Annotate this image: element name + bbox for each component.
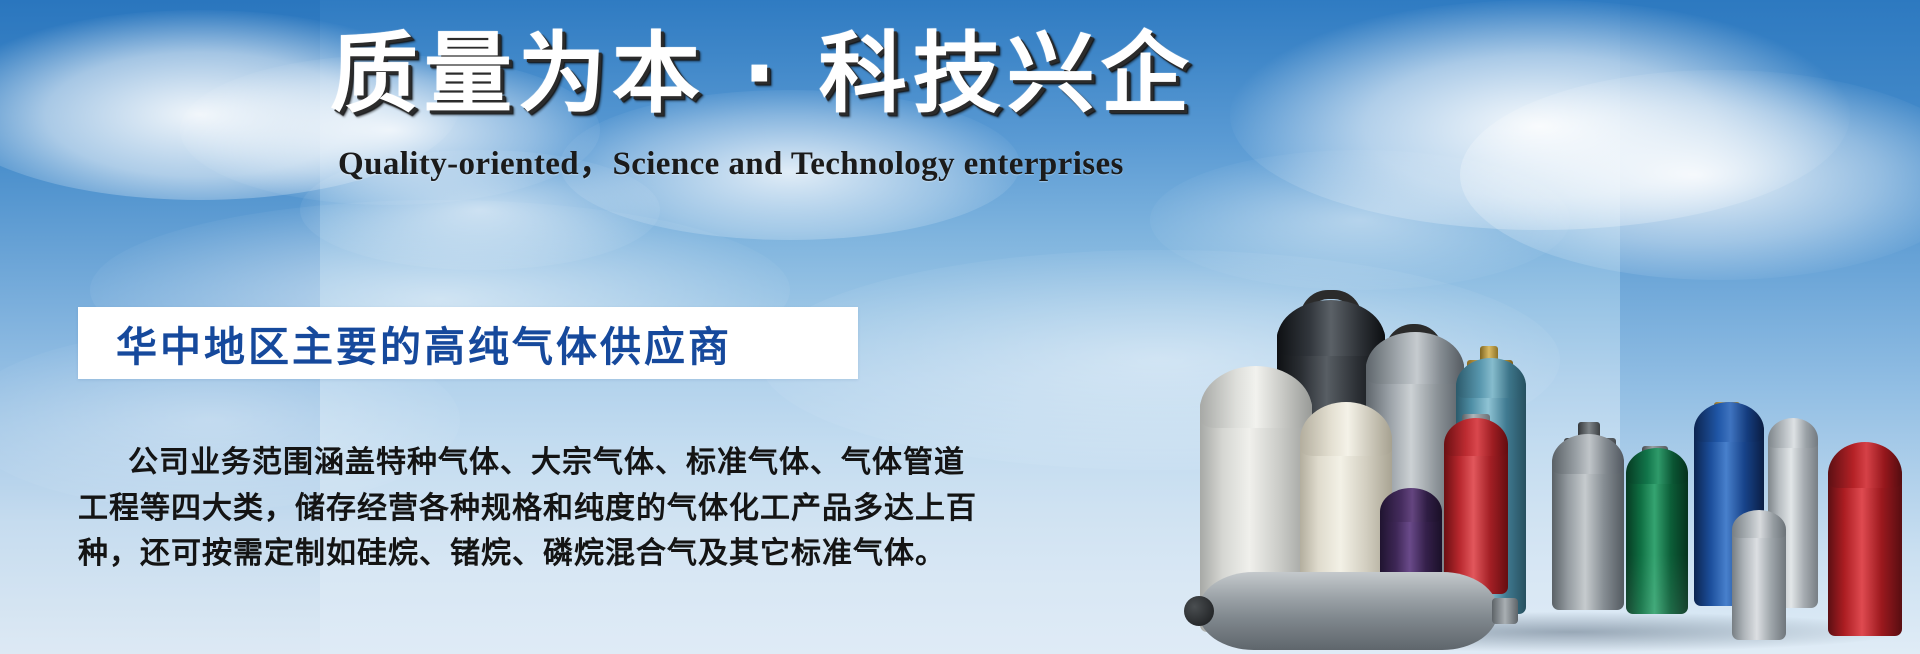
cylinder-shoulder: [1828, 442, 1902, 488]
cylinder-shoulder: [1694, 402, 1764, 442]
cylinder-shoulder: [1277, 300, 1385, 356]
cylinder-sheen: [1626, 464, 1688, 614]
cylinder-steel-valve: [1552, 452, 1624, 610]
promo-banner: 质量为本 · 科技兴企 Quality-oriented，Science and…: [0, 0, 1920, 654]
cylinder-red-small: [1444, 436, 1508, 594]
body-line: 工程等四大类，储存经营各种规格和纯度的气体化工产品多达上百: [78, 486, 868, 532]
callout-text: 华中地区主要的高纯气体供应商: [78, 313, 732, 373]
callout-box: 华中地区主要的高纯气体供应商: [78, 307, 858, 379]
cylinder-alu-short: [1732, 522, 1786, 640]
tank-valve: [1492, 598, 1518, 624]
cylinder-shoulder: [1768, 418, 1818, 448]
body-line: 种，还可按需定制如硅烷、锗烷、磷烷混合气及其它标准气体。: [78, 531, 868, 577]
banner-headline: 质量为本 · 科技兴企: [330, 26, 1250, 121]
gas-cylinders-photo: [1180, 150, 1920, 654]
tank-end-cap: [1184, 596, 1214, 626]
cylinder-red-large: [1828, 464, 1902, 636]
banner-subtitle: Quality-oriented，Science and Technology …: [338, 136, 1238, 184]
banner-body-copy: 公司业务范围涵盖特种气体、大宗气体、标准气体、气体管道 工程等四大类，储存经营各…: [78, 440, 868, 577]
body-line: 公司业务范围涵盖特种气体、大宗气体、标准气体、气体管道: [78, 440, 868, 486]
cylinder-green-band: [1626, 464, 1688, 614]
tank-horizontal-grey: [1198, 572, 1498, 650]
